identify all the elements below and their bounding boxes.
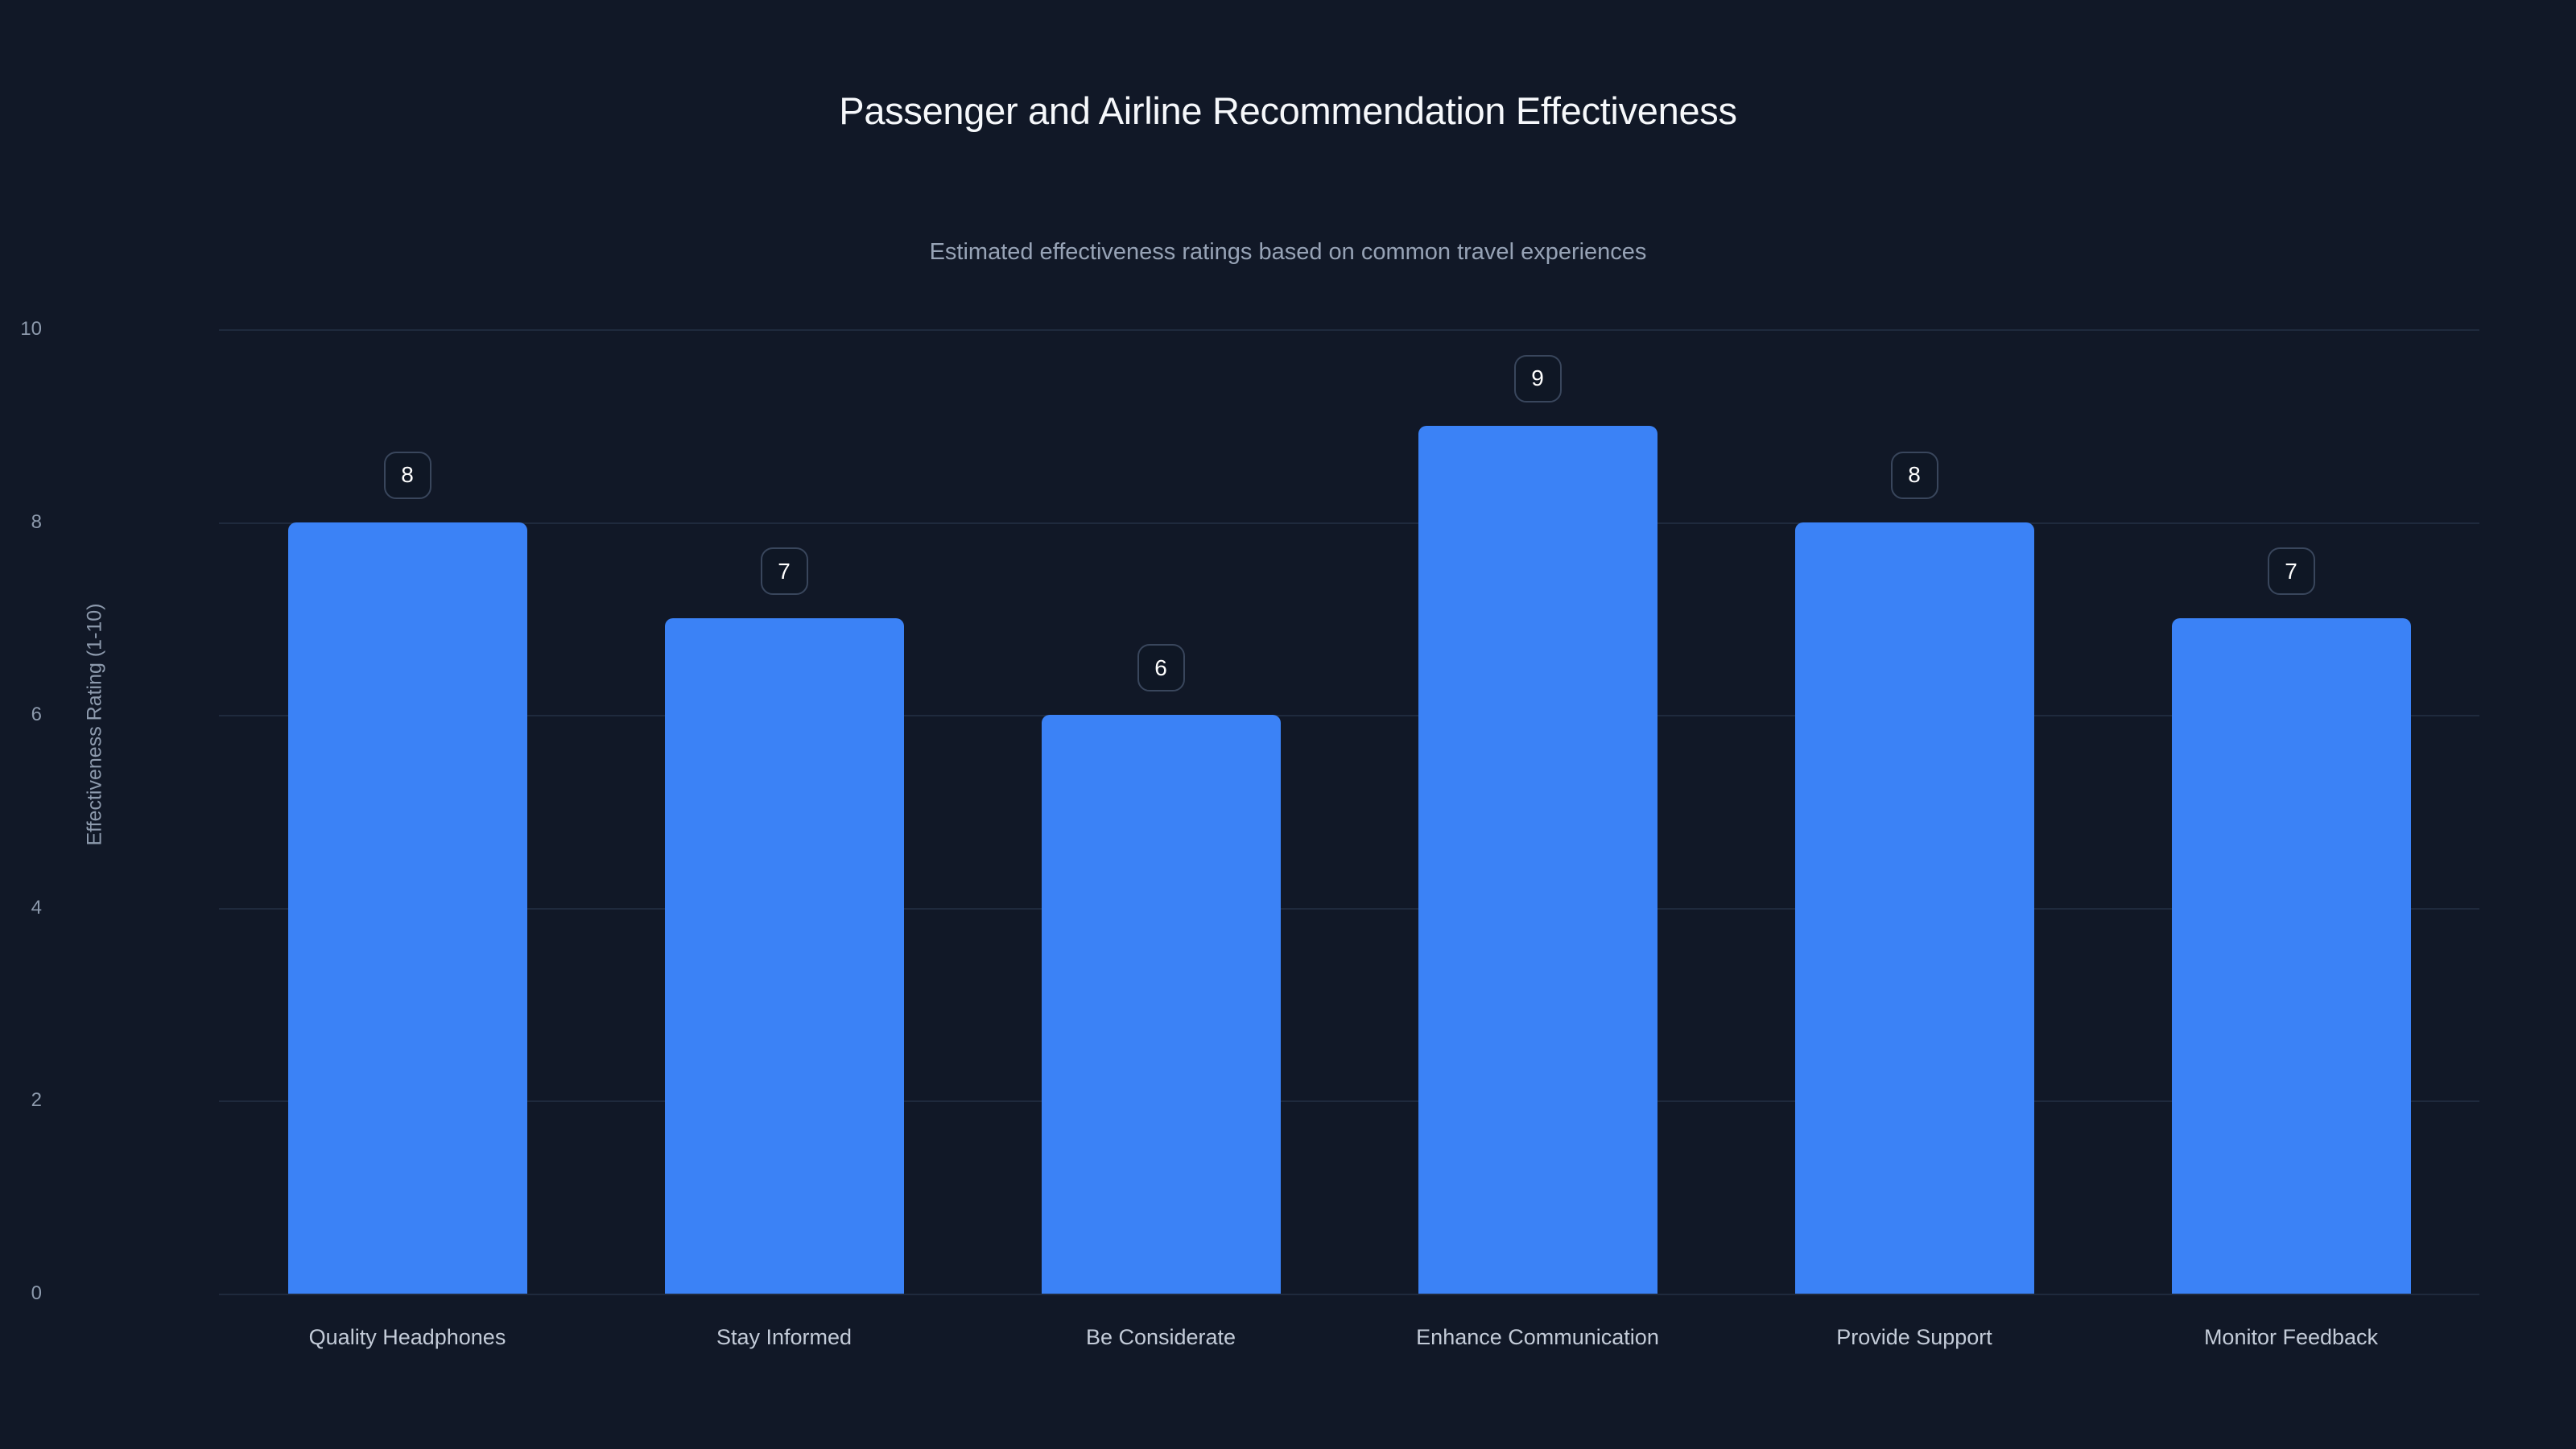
chart-subtitle: Estimated effectiveness ratings based on… xyxy=(0,239,2576,266)
y-axis-tick-label: 0 xyxy=(0,1282,42,1305)
gridline xyxy=(219,522,2479,524)
bar[interactable] xyxy=(665,618,904,1294)
bar-value-label: 7 xyxy=(761,547,808,595)
y-axis-tick-label: 2 xyxy=(0,1089,42,1112)
x-axis-tick-label: Enhance Communication xyxy=(1416,1325,1659,1350)
bar-value-label: 8 xyxy=(384,452,431,499)
bar-rect[interactable] xyxy=(665,618,904,1294)
gridline xyxy=(219,715,2479,716)
bar[interactable] xyxy=(1042,715,1281,1294)
chart-canvas: Passenger and Airline Recommendation Eff… xyxy=(0,0,2576,1449)
bar[interactable] xyxy=(1795,522,2034,1294)
x-axis-tick-label: Monitor Feedback xyxy=(2204,1325,2378,1350)
bar-rect[interactable] xyxy=(288,522,527,1294)
bar-rect[interactable] xyxy=(1042,715,1281,1294)
chart-title: Passenger and Airline Recommendation Eff… xyxy=(0,89,2576,133)
y-axis-title: Effectiveness Rating (1-10) xyxy=(84,603,107,845)
bar-rect[interactable] xyxy=(1795,522,2034,1294)
y-axis-tick-label: 4 xyxy=(0,897,42,919)
x-axis-tick-label: Stay Informed xyxy=(716,1325,852,1350)
bar-value-label: 9 xyxy=(1514,355,1562,402)
y-axis-tick-label: 8 xyxy=(0,511,42,534)
y-axis-tick-label: 10 xyxy=(0,318,42,341)
x-axis-tick-label: Quality Headphones xyxy=(309,1325,506,1350)
x-axis-tick-label: Provide Support xyxy=(1836,1325,1992,1350)
bar-value-label: 8 xyxy=(1891,452,1938,499)
plot-area: 876987 xyxy=(219,329,2479,1294)
bar[interactable] xyxy=(2172,618,2411,1294)
gridline xyxy=(219,329,2479,331)
gridline xyxy=(219,1100,2479,1102)
bar-rect[interactable] xyxy=(1418,426,1657,1294)
bar-value-label: 6 xyxy=(1137,644,1185,691)
bar-rect[interactable] xyxy=(2172,618,2411,1294)
bar-value-label: 7 xyxy=(2268,547,2315,595)
axis-baseline xyxy=(219,1294,2479,1295)
y-axis-tick-label: 6 xyxy=(0,704,42,726)
bar[interactable] xyxy=(288,522,527,1294)
gridline xyxy=(219,908,2479,910)
bar[interactable] xyxy=(1418,426,1657,1294)
x-axis-tick-label: Be Considerate xyxy=(1086,1325,1236,1350)
